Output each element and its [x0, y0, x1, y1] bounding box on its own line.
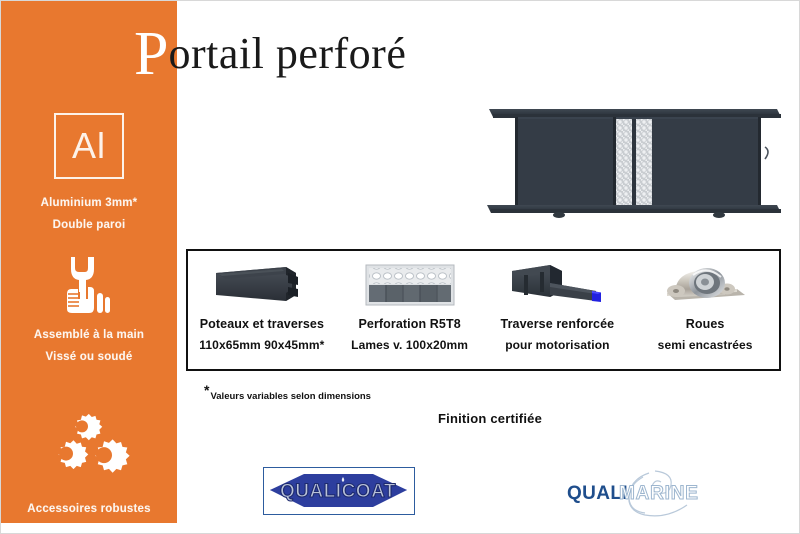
- footnote-text: Valeurs variables selon dimensions: [210, 391, 371, 402]
- feature-item-traverse: Traverse renforcée pour motorisation: [484, 251, 632, 369]
- poteau-profile-icon: [212, 259, 312, 311]
- page-title-rest: ortail perforé: [168, 29, 406, 78]
- features-panel: Poteaux et traverses 110x65mm 90x45mm*: [186, 249, 781, 371]
- sidebar-item-assemblage: Assemblé à la main Vissé ou soudé: [1, 253, 177, 369]
- qualicoat-logo: QUALICOAT: [263, 467, 415, 515]
- feature-label-poteaux-2: 110x65mm 90x45mm*: [199, 338, 324, 352]
- sidebar-label-aluminium-1: Aluminium 3mm*: [1, 193, 177, 215]
- footnote: *Valeurs variables selon dimensions: [204, 382, 371, 402]
- footnote-star: *: [204, 382, 209, 398]
- perforation-sample-icon: [360, 259, 460, 311]
- aluminium-square-icon: Al: [54, 113, 124, 179]
- feature-label-roues-2: semi encastrées: [658, 338, 753, 352]
- feature-item-poteaux: Poteaux et traverses 110x65mm 90x45mm*: [188, 251, 336, 369]
- feature-item-perforation: Perforation R5T8 Lames v. 100x20mm: [336, 251, 484, 369]
- hand-wrench-icon: [1, 253, 177, 315]
- feature-label-roues-1: Roues: [686, 317, 725, 331]
- portail-perfore-product-image: [479, 101, 785, 225]
- feature-item-roues: Roues semi encastrées: [631, 251, 779, 369]
- feature-label-perforation-2: Lames v. 100x20mm: [351, 338, 468, 352]
- sidebar-label-assemblage-1: Assemblé à la main: [1, 325, 177, 347]
- roue-semi-encastree-icon: [659, 259, 751, 311]
- feature-label-traverse-1: Traverse renforcée: [501, 317, 615, 331]
- sidebar-label-aluminium-2: Double paroi: [1, 215, 177, 237]
- qualimarine-logo-text-light: MARINE: [619, 483, 699, 504]
- feature-label-poteaux-1: Poteaux et traverses: [200, 317, 324, 331]
- aluminium-badge-label: Al: [72, 128, 106, 164]
- feature-label-perforation-1: Perforation R5T8: [358, 317, 460, 331]
- sidebar-item-aluminium: Al Aluminium 3mm* Double paroi: [1, 113, 177, 237]
- page-title: Portail perforé: [134, 23, 406, 85]
- sidebar-label-assemblage-2: Vissé ou soudé: [1, 347, 177, 369]
- qualicoat-logo-text: QUALICOAT: [280, 481, 396, 502]
- sidebar-label-accessoires-1: Accessoires robustes: [1, 499, 177, 521]
- feature-label-traverse-2: pour motorisation: [505, 338, 609, 352]
- sidebar-item-accessoires: Accessoires robustes: [1, 413, 177, 521]
- qualimarine-logo: QUALI MARINE: [557, 463, 717, 519]
- traverse-motorisation-icon: [504, 259, 610, 311]
- page-title-capital: P: [134, 20, 168, 88]
- product-spec-sheet: Al Aluminium 3mm* Double paroi: [0, 0, 800, 534]
- gears-icon: [1, 413, 177, 487]
- certification-heading: Finition certifiée: [438, 411, 542, 426]
